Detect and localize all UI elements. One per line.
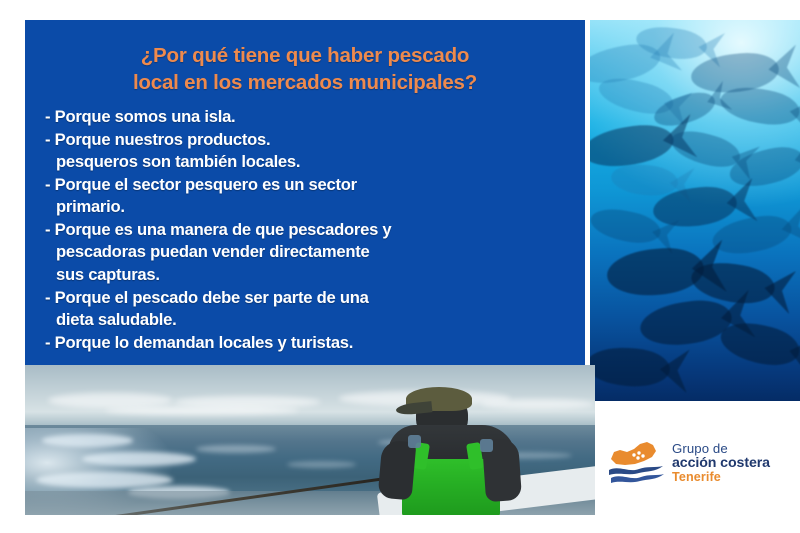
bullet-line: primario. (45, 196, 571, 218)
jacket-badge-left (408, 435, 421, 448)
jacket-badge-right (480, 439, 493, 452)
bullet-line: pesqueros son también locales. (45, 151, 571, 173)
brand-logo: Grupo de acción costera Tenerife (607, 432, 793, 494)
bullet-line: sus capturas. (45, 264, 571, 286)
list-item: - Porque el pescado debe ser parte de un… (45, 287, 571, 332)
bullet-line: dieta saludable. (45, 309, 571, 331)
bullet-line: - Porque nuestros productos. (45, 129, 571, 151)
logo-line-1: Grupo de (672, 442, 770, 456)
bullet-line: pescadoras puedan vender directamente (45, 241, 571, 263)
fisherman-arm-left (378, 440, 417, 501)
page-title: ¿Por qué tiene que haber pescado local e… (47, 42, 563, 96)
reasons-list: - Porque somos una isla. - Porque nuestr… (39, 106, 571, 354)
list-item: - Porque el sector pesquero es un sector… (45, 174, 571, 219)
fisherman-at-sea-photo (25, 365, 595, 515)
underwater-tuna-photo (590, 20, 800, 401)
tenerife-island-waves-icon (607, 439, 665, 487)
logo-panel: Grupo de acción costera Tenerife (595, 402, 800, 533)
bullet-line: - Porque es una manera de que pescadores… (45, 219, 571, 241)
blue-text-panel: ¿Por qué tiene que haber pescado local e… (25, 20, 585, 365)
logo-line-3: Tenerife (672, 471, 770, 484)
poster-canvas: ¿Por qué tiene que haber pescado local e… (0, 0, 800, 533)
fisherman-figure (380, 383, 555, 515)
headline-line-1: ¿Por qué tiene que haber pescado (47, 42, 563, 69)
bullet-line: - Porque el sector pesquero es un sector (45, 174, 571, 196)
headline-line-2: local en los mercados municipales? (47, 69, 563, 96)
list-item: - Porque es una manera de que pescadores… (45, 219, 571, 286)
logo-line-2: acción costera (672, 456, 770, 471)
list-item: - Porque somos una isla. (45, 106, 571, 128)
bullet-line: - Porque el pescado debe ser parte de un… (45, 287, 571, 309)
bullet-line: - Porque somos una isla. (45, 106, 571, 128)
bullet-line: - Porque lo demandan locales y turistas. (45, 332, 571, 354)
list-item: - Porque nuestros productos. pesqueros s… (45, 129, 571, 174)
list-item: - Porque lo demandan locales y turistas. (45, 332, 571, 354)
logo-wordmark: Grupo de acción costera Tenerife (672, 442, 770, 484)
